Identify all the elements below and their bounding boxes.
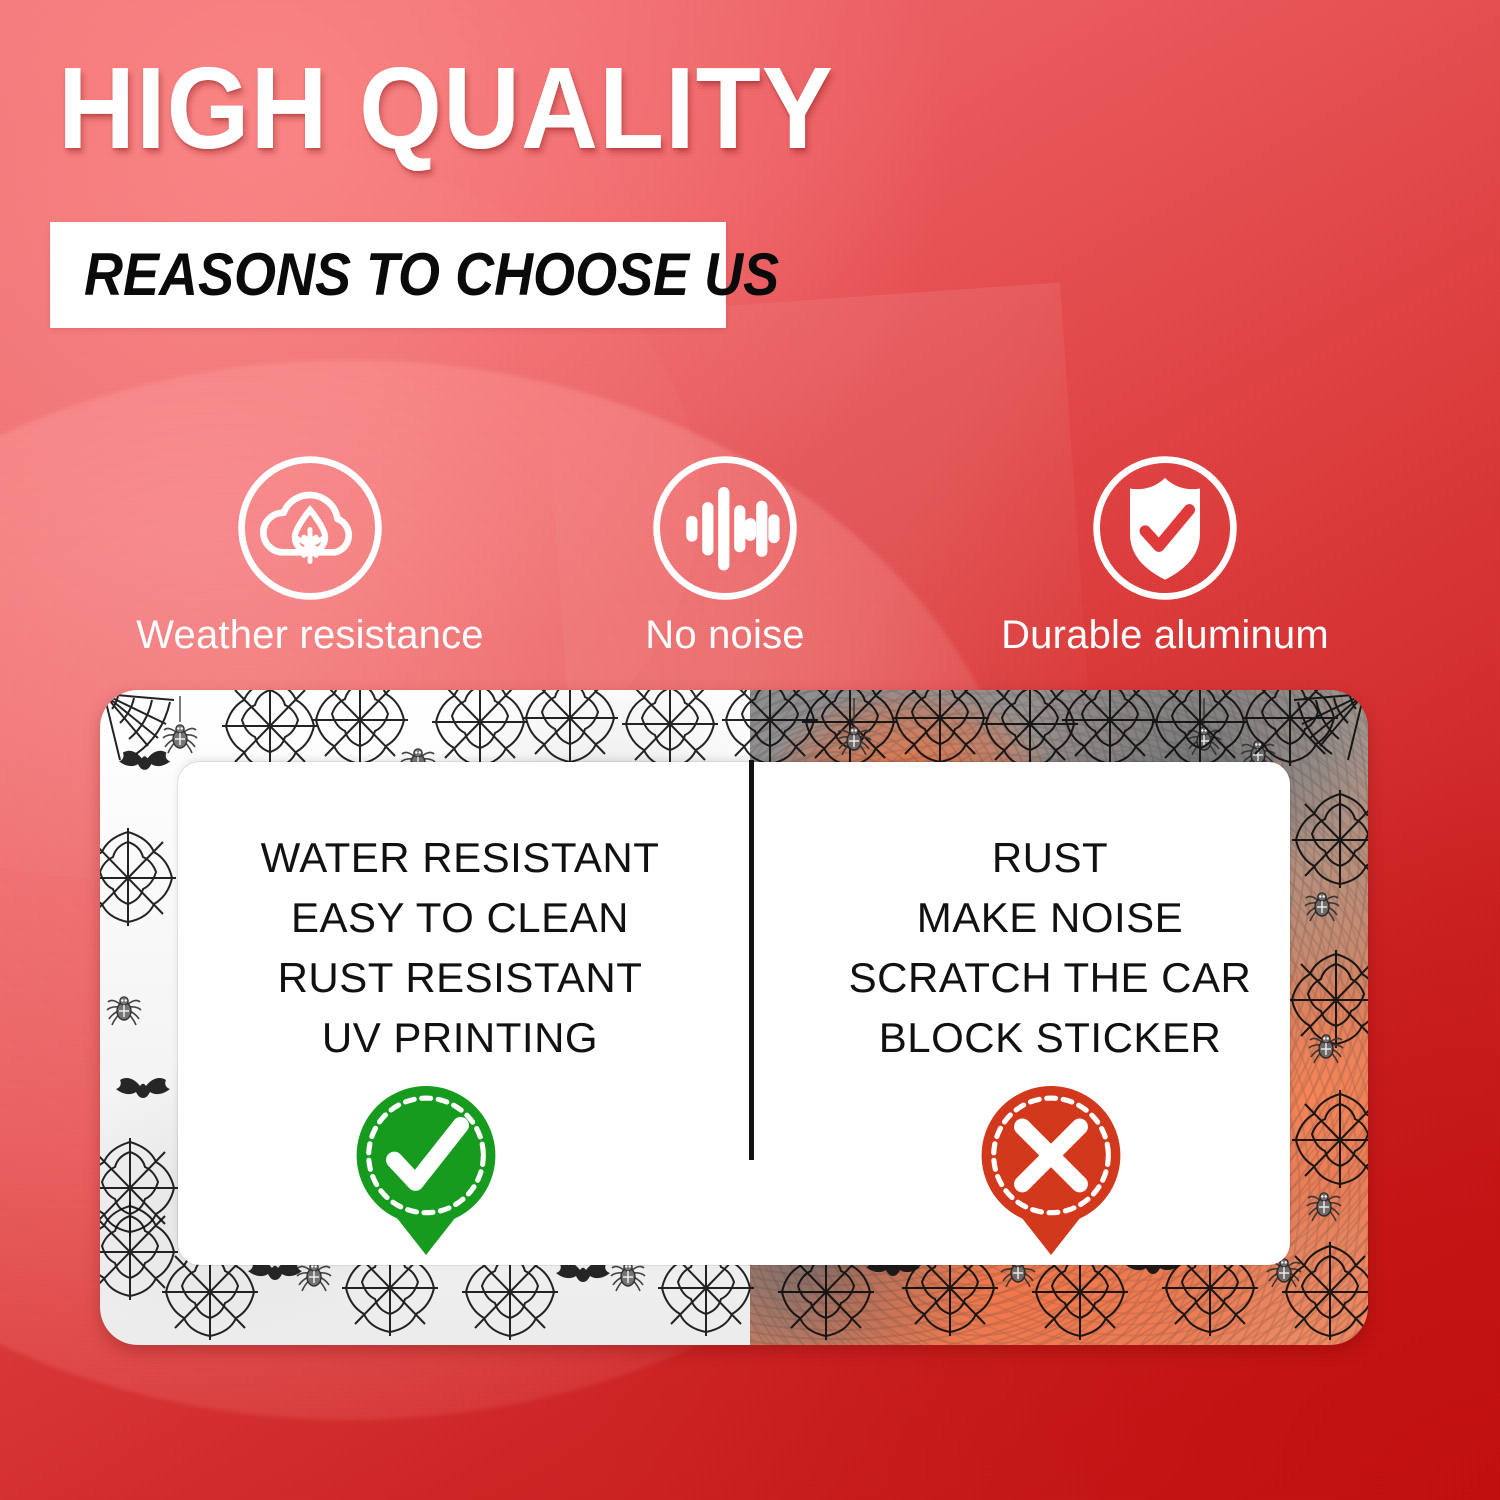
infographic-canvas: HIGH QUALITY REASONS TO CHOOSE US xyxy=(0,0,1500,1500)
feature-label: Weather resistance xyxy=(136,612,483,658)
cloud-rain-snow-icon xyxy=(234,452,386,604)
feature-durable-aluminum: Durable aluminum xyxy=(890,452,1440,658)
list-item: RUST xyxy=(765,828,1335,888)
sound-wave-icon xyxy=(649,452,801,604)
list-item: SCRATCH THE CAR xyxy=(765,948,1335,1008)
shield-check-icon xyxy=(1089,452,1241,604)
list-item: BLOCK STICKER xyxy=(765,1008,1335,1068)
bad-feature-list: RUST MAKE NOISE SCRATCH THE CAR BLOCK ST… xyxy=(765,828,1335,1068)
comparison-divider xyxy=(749,760,754,1160)
list-item: MAKE NOISE xyxy=(765,888,1335,948)
page-title: HIGH QUALITY xyxy=(58,42,941,182)
check-pin-icon xyxy=(350,1080,502,1258)
feature-label: No noise xyxy=(645,612,804,658)
list-item: RUST RESISTANT xyxy=(180,948,740,1008)
feature-row: Weather resistance No noise xyxy=(60,452,1440,667)
list-item: EASY TO CLEAN xyxy=(180,888,740,948)
feature-weather-resistance: Weather resistance xyxy=(60,452,560,658)
subtitle-text: REASONS TO CHOOSE US xyxy=(84,244,779,306)
subtitle-banner: REASONS TO CHOOSE US xyxy=(50,222,726,328)
feature-no-noise: No noise xyxy=(560,452,890,658)
feature-label: Durable aluminum xyxy=(1001,612,1329,658)
list-item: WATER RESISTANT xyxy=(180,828,740,888)
list-item: UV PRINTING xyxy=(180,1008,740,1068)
cross-pin-icon xyxy=(975,1080,1127,1258)
good-feature-list: WATER RESISTANT EASY TO CLEAN RUST RESIS… xyxy=(180,828,740,1068)
